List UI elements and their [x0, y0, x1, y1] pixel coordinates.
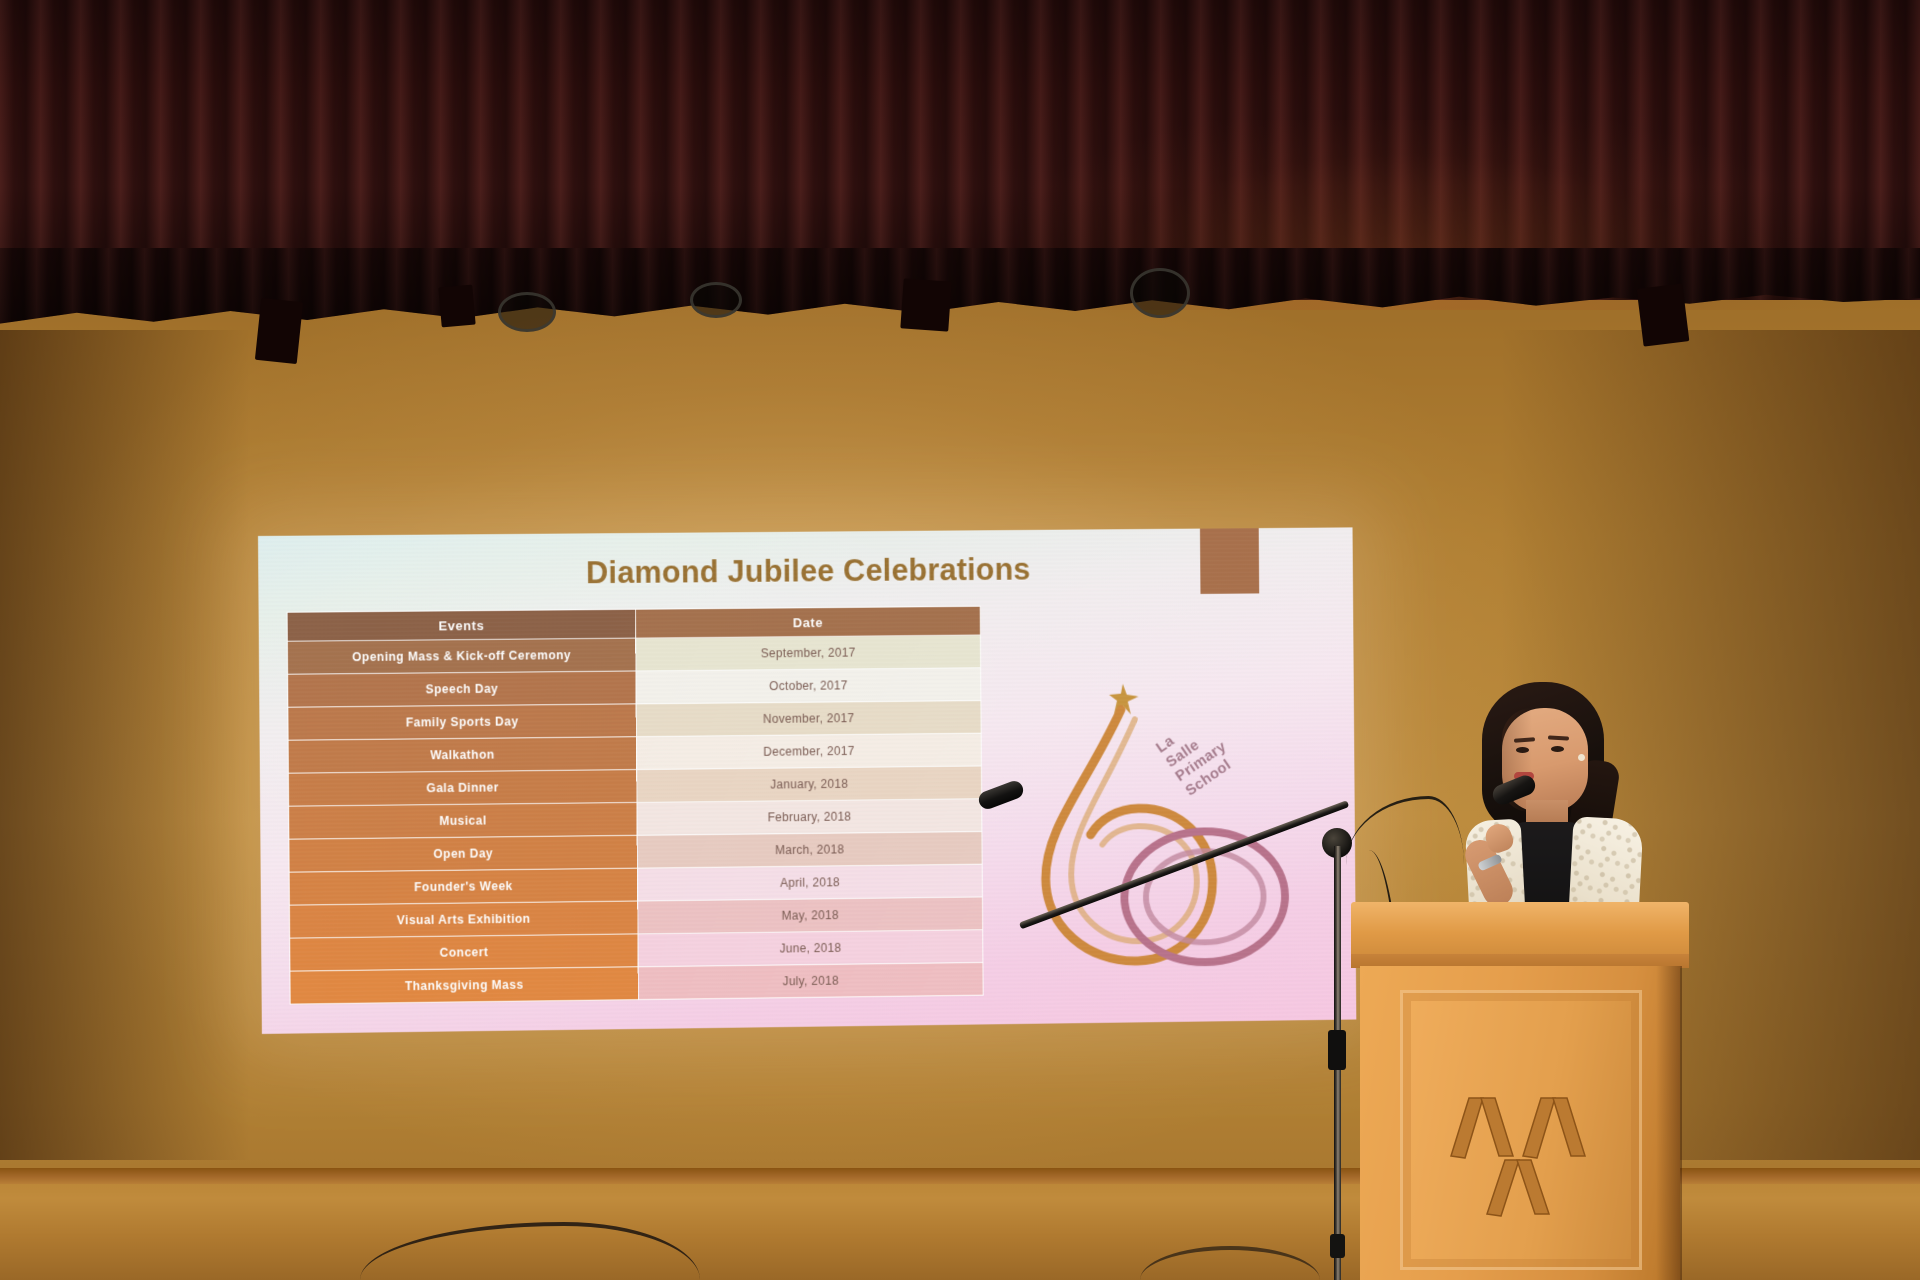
stage-light-fixture: [900, 278, 951, 331]
column-header-events: Events: [287, 609, 635, 641]
cell-date: April, 2018: [637, 864, 982, 901]
cell-event: Musical: [289, 802, 637, 839]
podium-top-surface: [1351, 902, 1689, 958]
stage-light-fixture: [255, 298, 303, 364]
cell-date: February, 2018: [636, 799, 981, 836]
cell-event: Walkathon: [288, 737, 636, 773]
slide-title: Diamond Jubilee Celebrations: [258, 549, 1353, 594]
cell-date: January, 2018: [636, 766, 981, 802]
presenter-earring: [1578, 754, 1585, 761]
stage-light-fixture: [1637, 283, 1690, 346]
cell-event: Thanksgiving Mass: [290, 967, 638, 1004]
cell-date: December, 2017: [636, 733, 981, 769]
cell-date: November, 2017: [636, 700, 981, 736]
presenter-eye: [1516, 747, 1529, 753]
stage-light-fixture: [438, 285, 475, 328]
cell-event: Founder's Week: [289, 868, 637, 905]
cell-event: Open Day: [289, 835, 637, 872]
cell-date: March, 2018: [637, 831, 982, 868]
presenter-eye: [1551, 746, 1564, 752]
column-header-date: Date: [635, 606, 980, 638]
stage-lamp-ring: [690, 282, 742, 318]
wooden-podium: [1360, 902, 1680, 1280]
events-table-body: Opening Mass & Kick-off Ceremony Septemb…: [287, 635, 983, 1004]
events-table: Events Date Opening Mass & Kick-off Cere…: [287, 606, 984, 1005]
cell-event: Gala Dinner: [288, 770, 636, 807]
stage-lamp-ring: [1130, 268, 1190, 318]
cell-event: Speech Day: [288, 671, 636, 707]
cell-date: June, 2018: [637, 930, 982, 967]
cell-event: Opening Mass & Kick-off Ceremony: [287, 638, 635, 674]
podium-side-shadow: [1656, 966, 1682, 1280]
crest-graphic: [1445, 1078, 1595, 1218]
projected-slide: Diamond Jubilee Celebrations Events Date…: [258, 527, 1356, 1034]
podium-body: [1360, 966, 1680, 1280]
cell-event: Visual Arts Exhibition: [289, 901, 637, 938]
cell-event: Family Sports Day: [288, 704, 636, 740]
cell-date: October, 2017: [635, 668, 980, 704]
la-salle-crest-emblem: [1445, 1078, 1595, 1218]
cell-date: May, 2018: [637, 897, 982, 934]
cell-date: September, 2017: [635, 635, 980, 671]
cell-date: July, 2018: [638, 962, 983, 999]
stage-lamp-ring: [498, 292, 556, 332]
cell-event: Concert: [290, 934, 638, 971]
wall-left-shadow: [0, 330, 250, 1160]
stage-scene: Diamond Jubilee Celebrations Events Date…: [0, 0, 1920, 1280]
